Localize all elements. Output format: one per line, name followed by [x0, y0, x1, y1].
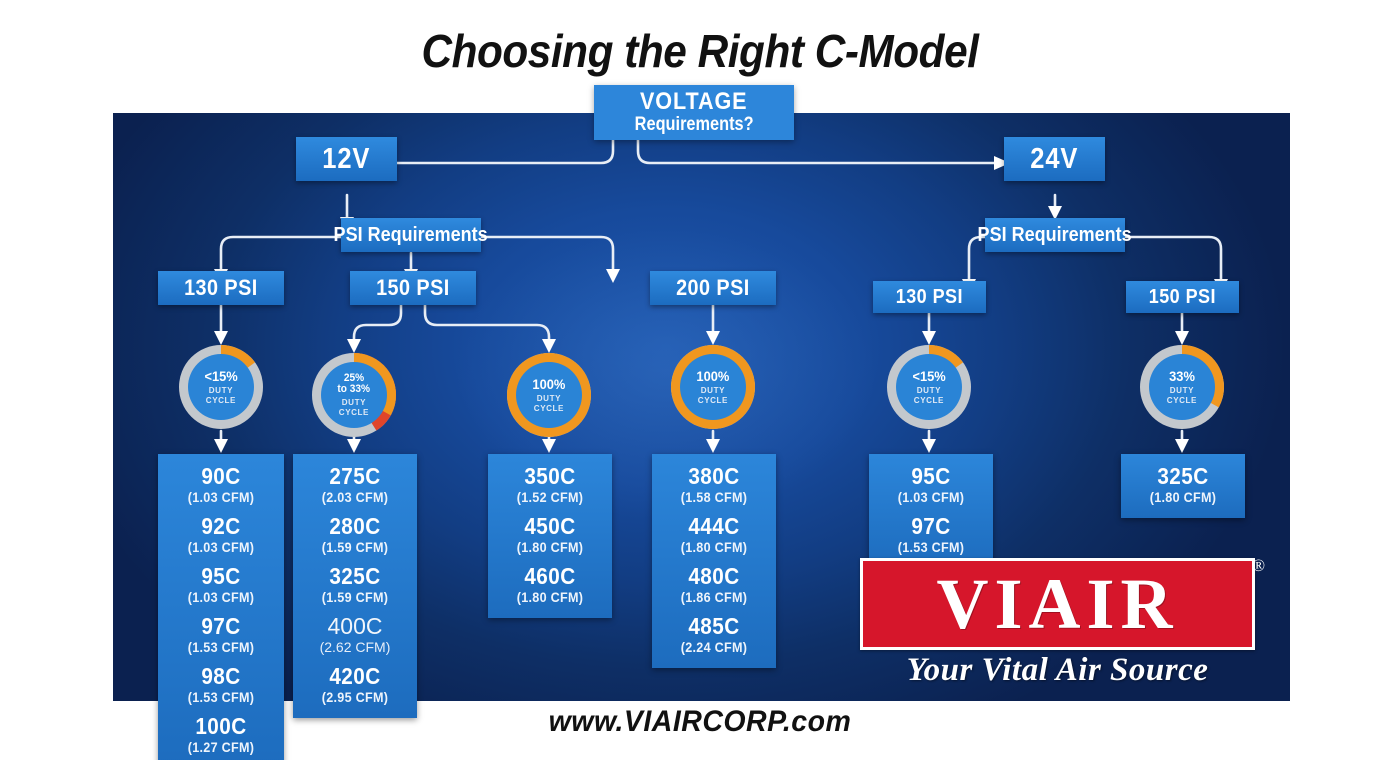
- psi-requirements-label-24v: PSI Requirements: [978, 224, 1132, 247]
- model-entry: 97C(1.53 CFM): [164, 614, 278, 656]
- duty-value-line2: to 33%: [338, 384, 371, 395]
- model-number: 95C: [881, 464, 982, 488]
- model-list-12v-150-a[interactable]: 275C(2.03 CFM)280C(1.59 CFM)325C(1.59 CF…: [293, 454, 417, 718]
- duty-value: 33%: [1169, 369, 1195, 383]
- model-cfm: (1.52 CFM): [500, 489, 601, 506]
- viair-logo: VIAIR ® Your Vital Air Source: [860, 558, 1255, 698]
- viair-tagline: Your Vital Air Source: [860, 652, 1255, 689]
- duty-caption-1: DUTY: [917, 385, 941, 395]
- model-entry: 380C(1.58 CFM): [658, 464, 770, 506]
- node-24v[interactable]: 24V: [1004, 137, 1105, 181]
- duty-caption-1: DUTY: [209, 385, 233, 395]
- node-psi-150-12v[interactable]: 150 PSI: [350, 271, 476, 305]
- model-entry: 480C(1.86 CFM): [658, 564, 770, 606]
- duty-circle-12v-150-b: 100% DUTYCYCLE: [507, 353, 591, 437]
- model-number: 275C: [305, 464, 406, 488]
- voltage-label-main: VOLTAGE: [640, 90, 748, 114]
- model-number: 98C: [170, 664, 273, 688]
- node-psi-requirements-24v[interactable]: PSI Requirements: [985, 218, 1125, 252]
- model-entry: 92C(1.03 CFM): [164, 514, 278, 556]
- duty-caption-2: CYCLE: [534, 403, 564, 413]
- duty-inner: 100% DUTYCYCLE: [680, 354, 746, 420]
- model-number: 480C: [664, 564, 765, 588]
- duty-value: <15%: [912, 369, 945, 383]
- model-cfm: (1.80 CFM): [500, 539, 601, 556]
- duty-circle-24v-130: <15% DUTYCYCLE: [887, 345, 971, 429]
- model-number: 420C: [305, 664, 406, 688]
- diagram-panel: 12V 24V PSI Requirements PSI Requirement…: [113, 113, 1290, 701]
- model-cfm: (1.80 CFM): [1133, 489, 1234, 506]
- model-cfm: (2.95 CFM): [305, 689, 406, 706]
- model-entry: 90C(1.03 CFM): [164, 464, 278, 506]
- model-cfm: (1.03 CFM): [170, 589, 273, 606]
- duty-caption-2: CYCLE: [698, 395, 728, 405]
- duty-inner: 33% DUTYCYCLE: [1149, 354, 1215, 420]
- model-entry: 97C(1.53 CFM): [875, 514, 987, 556]
- duty-caption-2: CYCLE: [914, 395, 944, 405]
- model-number: 400C: [299, 614, 411, 638]
- model-number: 325C: [305, 564, 406, 588]
- node-voltage-requirements[interactable]: VOLTAGE Requirements?: [594, 85, 794, 140]
- node-24v-label: 24V: [1030, 143, 1078, 176]
- model-entry: 100C(1.27 CFM): [164, 714, 278, 756]
- model-list-12v-130[interactable]: 90C(1.03 CFM)92C(1.03 CFM)95C(1.03 CFM)9…: [158, 454, 284, 760]
- model-cfm: (1.53 CFM): [170, 689, 273, 706]
- model-number: 90C: [170, 464, 273, 488]
- model-number: 92C: [170, 514, 273, 538]
- node-12v[interactable]: 12V: [296, 137, 397, 181]
- model-cfm: (1.53 CFM): [170, 639, 273, 656]
- voltage-label-sub: Requirements?: [635, 114, 754, 136]
- model-entry: 460C(1.80 CFM): [494, 564, 606, 606]
- model-cfm: (1.86 CFM): [664, 589, 765, 606]
- model-number: 95C: [170, 564, 273, 588]
- model-cfm: (1.03 CFM): [170, 539, 273, 556]
- model-cfm: (1.80 CFM): [500, 589, 601, 606]
- psi-130-24v-label: 130 PSI: [896, 286, 963, 309]
- duty-inner: <15% DUTYCYCLE: [896, 354, 962, 420]
- model-cfm: (1.80 CFM): [664, 539, 765, 556]
- model-cfm: (1.53 CFM): [881, 539, 982, 556]
- model-cfm: (1.59 CFM): [305, 589, 406, 606]
- duty-inner: <15% DUTYCYCLE: [188, 354, 254, 420]
- model-cfm: (1.59 CFM): [305, 539, 406, 556]
- node-psi-130-24v[interactable]: 130 PSI: [873, 281, 986, 313]
- model-entry: 275C(2.03 CFM): [299, 464, 411, 506]
- viair-logo-box: VIAIR ®: [860, 558, 1255, 650]
- model-entry: 420C(2.95 CFM): [299, 664, 411, 706]
- duty-caption-2: CYCLE: [339, 407, 369, 417]
- model-list-12v-150-b[interactable]: 350C(1.52 CFM)450C(1.80 CFM)460C(1.80 CF…: [488, 454, 612, 618]
- duty-caption-2: CYCLE: [1167, 395, 1197, 405]
- model-cfm: (2.24 CFM): [664, 639, 765, 656]
- node-12v-label: 12V: [322, 143, 370, 176]
- node-psi-130-12v[interactable]: 130 PSI: [158, 271, 284, 305]
- model-entry: 325C(1.80 CFM): [1127, 464, 1239, 506]
- duty-circle-12v-200: 100% DUTYCYCLE: [671, 345, 755, 429]
- model-number: 97C: [170, 614, 273, 638]
- model-entry: 400C(2.62 CFM): [299, 614, 411, 656]
- model-number: 450C: [500, 514, 601, 538]
- infographic-root: Choosing the Right C-Model: [0, 0, 1400, 760]
- model-list-24v-150[interactable]: 325C(1.80 CFM): [1121, 454, 1245, 518]
- model-number: 100C: [170, 714, 273, 738]
- registered-trademark-icon: ®: [1252, 557, 1265, 574]
- viair-wordmark: VIAIR: [936, 568, 1178, 640]
- node-psi-150-24v[interactable]: 150 PSI: [1126, 281, 1239, 313]
- model-cfm: (2.62 CFM): [299, 639, 411, 656]
- duty-inner: 100% DUTYCYCLE: [516, 362, 582, 428]
- duty-value: 100%: [697, 369, 730, 383]
- model-number: 97C: [881, 514, 982, 538]
- model-cfm: (1.27 CFM): [170, 739, 273, 756]
- model-entry: 350C(1.52 CFM): [494, 464, 606, 506]
- duty-value: 100%: [533, 377, 566, 391]
- model-number: 350C: [500, 464, 601, 488]
- model-list-12v-200[interactable]: 380C(1.58 CFM)444C(1.80 CFM)480C(1.86 CF…: [652, 454, 776, 668]
- psi-200-12v-label: 200 PSI: [676, 275, 750, 301]
- psi-150-12v-label: 150 PSI: [376, 275, 450, 301]
- duty-caption-1: DUTY: [537, 393, 561, 403]
- duty-value: <15%: [204, 369, 237, 383]
- model-number: 325C: [1133, 464, 1234, 488]
- model-number: 280C: [305, 514, 406, 538]
- model-entry: 485C(2.24 CFM): [658, 614, 770, 656]
- model-entry: 98C(1.53 CFM): [164, 664, 278, 706]
- psi-requirements-label-12v: PSI Requirements: [334, 224, 488, 247]
- model-cfm: (1.03 CFM): [881, 489, 982, 506]
- model-entry: 444C(1.80 CFM): [658, 514, 770, 556]
- duty-caption-1: DUTY: [342, 397, 366, 407]
- model-number: 444C: [664, 514, 765, 538]
- model-number: 380C: [664, 464, 765, 488]
- page-title: Choosing the Right C-Model: [56, 24, 1344, 78]
- duty-caption-1: DUTY: [701, 385, 725, 395]
- model-entry: 95C(1.03 CFM): [875, 464, 987, 506]
- model-list-24v-130[interactable]: 95C(1.03 CFM)97C(1.53 CFM): [869, 454, 993, 568]
- node-psi-requirements-12v-box[interactable]: PSI Requirements: [341, 218, 481, 252]
- duty-circle-24v-150: 33% DUTYCYCLE: [1140, 345, 1224, 429]
- duty-caption-1: DUTY: [1170, 385, 1194, 395]
- psi-130-12v-label: 130 PSI: [184, 275, 258, 301]
- model-number: 485C: [664, 614, 765, 638]
- model-entry: 280C(1.59 CFM): [299, 514, 411, 556]
- model-entry: 95C(1.03 CFM): [164, 564, 278, 606]
- model-cfm: (1.58 CFM): [664, 489, 765, 506]
- duty-circle-12v-130: <15% DUTYCYCLE: [179, 345, 263, 429]
- model-entry: 450C(1.80 CFM): [494, 514, 606, 556]
- node-psi-200-12v[interactable]: 200 PSI: [650, 271, 776, 305]
- model-entry: 325C(1.59 CFM): [299, 564, 411, 606]
- duty-inner: 25% to 33% DUTYCYCLE: [321, 362, 387, 428]
- psi-150-24v-label: 150 PSI: [1149, 286, 1216, 309]
- model-cfm: (2.03 CFM): [305, 489, 406, 506]
- duty-circle-12v-150-a: 25% to 33% DUTYCYCLE: [312, 353, 396, 437]
- model-number: 460C: [500, 564, 601, 588]
- model-cfm: (1.03 CFM): [170, 489, 273, 506]
- duty-caption-2: CYCLE: [206, 395, 236, 405]
